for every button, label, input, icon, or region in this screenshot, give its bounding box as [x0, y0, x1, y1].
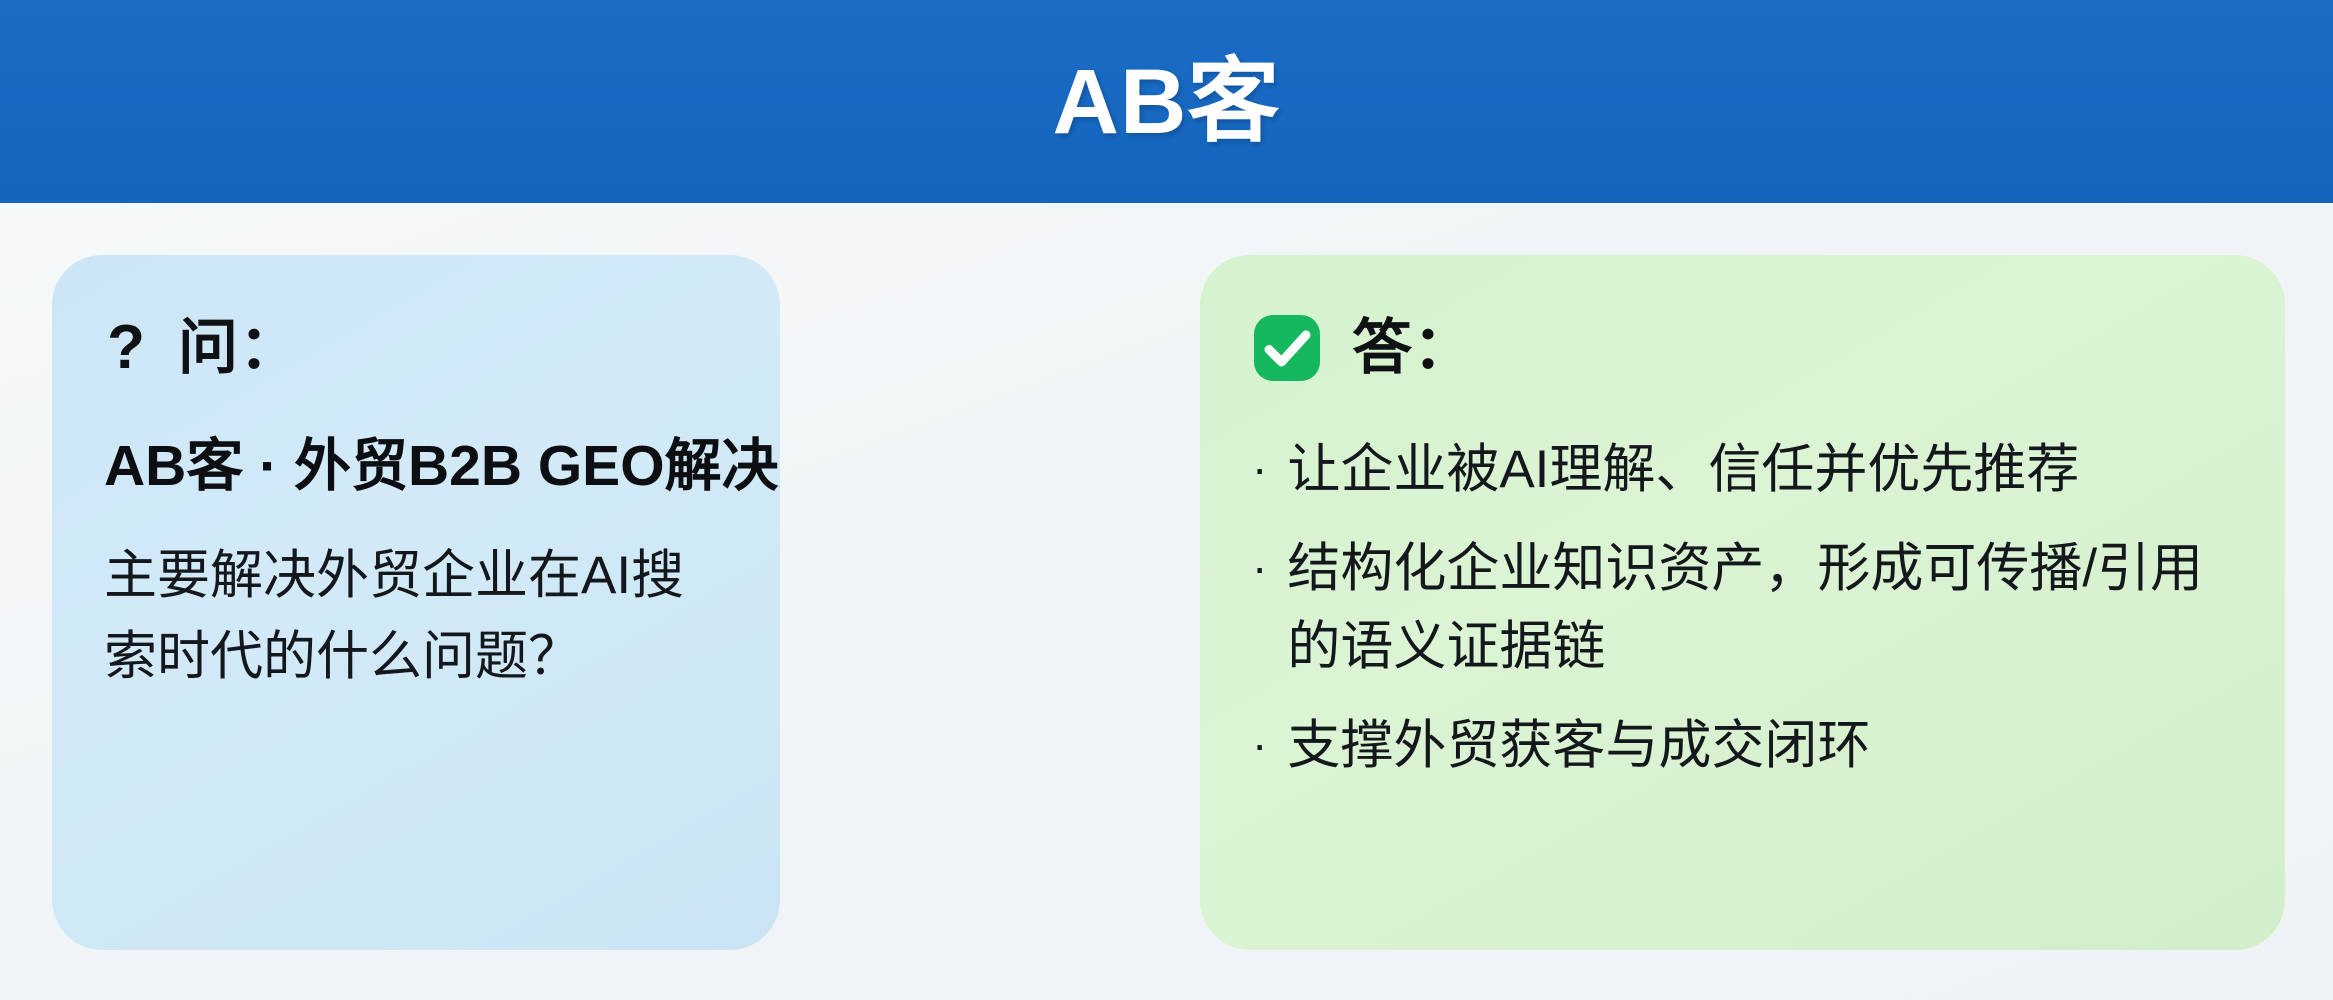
page-title: AB客 — [1053, 56, 1281, 148]
bullet-marker-icon: · — [1252, 431, 1267, 506]
answer-bullet-list: · 让企业被AI理解、信任并优先推荐 · 结构化企业知识资产，形成可传播/引用的… — [1252, 431, 2233, 785]
header-bar: AB客 — [0, 0, 2333, 203]
question-body: 主要解决外贸企业在AI搜索时代的什么问题？ — [104, 536, 728, 697]
list-item: · 让企业被AI理解、信任并优先推荐 — [1252, 431, 2233, 508]
question-card-header: ? 问： — [104, 311, 728, 385]
list-item-label: 支撑外贸获客与成交闭环 — [1287, 707, 2233, 784]
question-card: ? 问： AB客 · 外贸B2B GEO解决方案 主要解决外贸企业在AI搜索时代… — [52, 255, 780, 950]
list-item-label: 结构化企业知识资产，形成可传播/引用的语义证据链 — [1287, 530, 2233, 685]
question-title: AB客 · 外贸B2B GEO解决方案 — [104, 431, 728, 502]
list-item: · 支撑外贸获客与成交闭环 — [1252, 707, 2233, 784]
list-item: · 结构化企业知识资产，形成可传播/引用的语义证据链 — [1252, 530, 2233, 685]
answer-card: 答： · 让企业被AI理解、信任并优先推荐 · 结构化企业知识资产，形成可传播/… — [1200, 255, 2285, 950]
answer-card-label: 答： — [1352, 318, 1474, 378]
cards-container: ? 问： AB客 · 外贸B2B GEO解决方案 主要解决外贸企业在AI搜索时代… — [0, 203, 2333, 1000]
bullet-marker-icon: · — [1252, 530, 1267, 605]
list-item-label: 让企业被AI理解、信任并优先推荐 — [1287, 431, 2233, 508]
check-mark-icon — [1252, 313, 1322, 383]
bullet-marker-icon: · — [1252, 707, 1267, 782]
page-root: AB客 ? 问： AB客 · 外贸B2B GEO解决方案 主要解决外贸企业在AI… — [0, 0, 2333, 1000]
answer-card-header: 答： — [1252, 311, 2233, 385]
question-card-label: 问： — [178, 318, 300, 378]
question-mark-icon: ? — [104, 317, 148, 379]
